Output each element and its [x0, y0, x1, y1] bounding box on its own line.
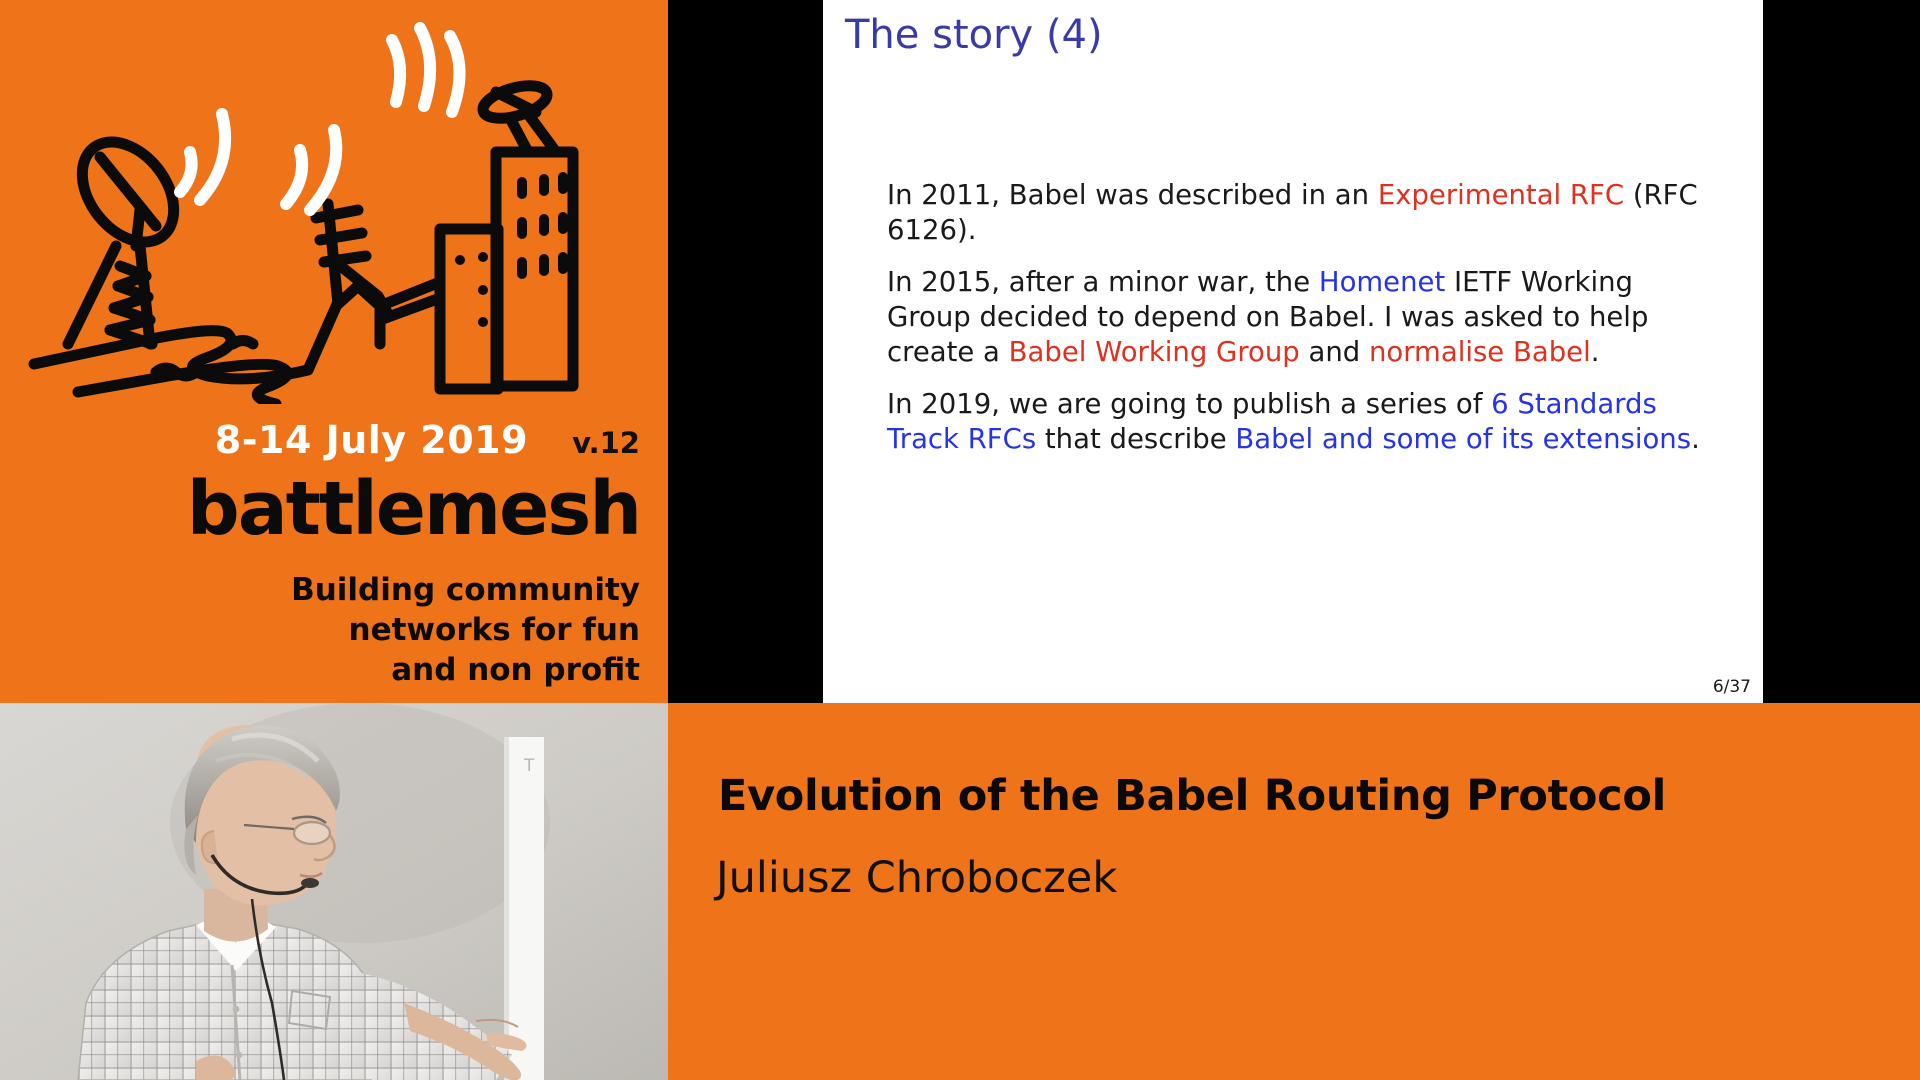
speaker-name: Juliusz Chroboczek — [716, 853, 1117, 903]
tagline-line-1: Building community — [0, 570, 640, 610]
presentation-slide: The story (4) In 2011, Babel was describ… — [823, 0, 1763, 703]
body-text: and — [1300, 336, 1369, 368]
slide-paragraph-p-2011: In 2011, Babel was described in an Exper… — [887, 178, 1715, 248]
body-text: . — [1691, 423, 1700, 455]
highlighted-text: Homenet — [1319, 266, 1445, 298]
talk-title-banner: Evolution of the Babel Routing Protocol … — [668, 703, 1920, 1080]
speaker-video-frame: T — [0, 703, 668, 1080]
conference-version: v.12 — [572, 426, 640, 460]
conference-dates-row: 8-14 July 2019v.12 — [0, 418, 668, 462]
body-text: . — [1591, 336, 1600, 368]
tagline-line-2: networks for fun — [0, 610, 640, 650]
slide-paragraph-p-2015: In 2015, after a minor war, the Homenet … — [887, 265, 1715, 370]
conference-logo-panel: 8-14 July 2019v.12 battlemesh Building c… — [0, 0, 668, 703]
highlighted-text: normalise Babel — [1369, 336, 1591, 368]
body-text: In 2019, we are going to publish a serie… — [887, 388, 1491, 420]
body-text: that describe — [1036, 423, 1235, 455]
slide-body: In 2011, Babel was described in an Exper… — [887, 178, 1715, 474]
tagline-line-3: and non profit — [0, 650, 640, 690]
slide-page-number: 6/37 — [1713, 677, 1751, 697]
highlighted-text: Babel and some of its extensions — [1235, 423, 1691, 455]
slide-title: The story (4) — [845, 12, 1103, 58]
body-text: In 2011, Babel was described in an — [887, 179, 1378, 211]
conference-dates: 8-14 July 2019 — [215, 418, 528, 462]
svg-text:T: T — [523, 756, 535, 776]
highlighted-text: Babel Working Group — [1009, 336, 1300, 368]
slide-paragraph-p-2019: In 2019, we are going to publish a serie… — [887, 387, 1715, 457]
talk-title: Evolution of the Babel Routing Protocol — [718, 771, 1666, 821]
screen-recording-composite: 8-14 July 2019v.12 battlemesh Building c… — [0, 0, 1920, 1080]
body-text: In 2015, after a minor war, the — [887, 266, 1319, 298]
speaker-video-feed[interactable]: T — [0, 703, 668, 1080]
battlemesh-illustration-icon — [28, 14, 628, 404]
highlighted-text: Experimental RFC — [1378, 179, 1624, 211]
conference-tagline: Building community networks for fun and … — [0, 570, 640, 690]
battlemesh-wordmark: battlemesh — [0, 472, 640, 546]
